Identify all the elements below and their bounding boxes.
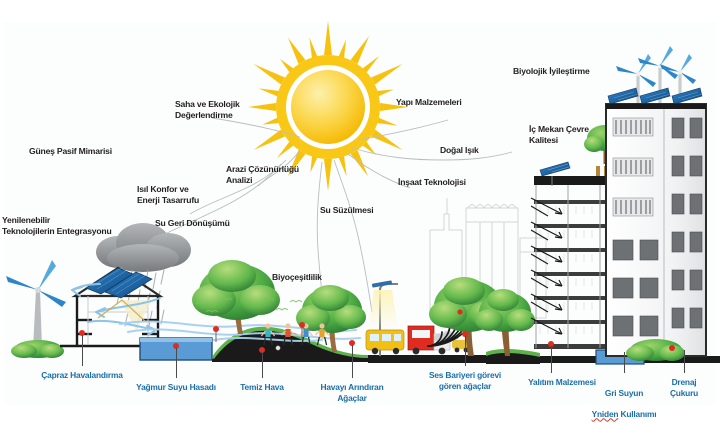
label-yenilenebilir: Yenilenebilir Teknolojilerin Entegrasyon… [2, 215, 112, 236]
tree-large-left [192, 260, 280, 334]
label-saha-ve-ekolojik: Saha ve Ekolojik Değerlendirme [175, 99, 240, 120]
label-su-suzulmesi: Su Süzülmesi [320, 205, 373, 216]
label-drenaj-cukuru: Drenaj Çukuru [666, 377, 702, 398]
label-temiz-hava: Temiz Hava [240, 382, 283, 393]
roof-solar-panels [608, 88, 702, 104]
leader-temiz-hava [262, 352, 263, 378]
label-gri-suyun-rest: Kullanımı [618, 409, 656, 419]
leader-yalitim-malzemesi [551, 346, 552, 373]
leader-gri-suyun [624, 352, 625, 373]
label-capraz-havalandirma: Çapraz Havalandırma [41, 370, 122, 381]
label-dogal-isik: Doğal Işık [440, 145, 479, 156]
label-gri-suyun-line1: Gri Suyun [605, 388, 643, 398]
label-su-geri-donusumu: Su Geri Dönüşümü [155, 218, 230, 229]
yellow-bus [366, 330, 404, 354]
tower-roof-assembly [608, 46, 702, 108]
label-biyocesitlilik: Biyoçeşitlilik [272, 272, 322, 283]
label-isil-konfor: Isıl Konfor ve Enerji Tasarrufu [137, 184, 199, 205]
label-arazi-cozunurlugu: Arazi Çözünürlüğü Analizi [226, 164, 299, 185]
label-ses-bariyeri: Ses Bariyeri görevi gören ağaçlar [429, 370, 501, 391]
label-yagmur-suyu-hasadi: Yağmur Suyu Hasadı [136, 382, 216, 393]
facade-louvers [613, 118, 653, 216]
leader-capraz-havalandirma [82, 335, 83, 366]
leader-yagmur-suyu-hasadi [176, 348, 177, 378]
label-ic-mekan-cevre-kalitesi: İç Mekan Çevre Kalitesi [529, 124, 589, 145]
tower-facade [606, 104, 706, 356]
label-yapi-malzemeleri: Yapı Malzemeleri [396, 97, 462, 108]
label-yalitim-malzemesi: Yalıtım Malzemesi [528, 377, 596, 388]
label-havayi-arindiran: Havayı Arındıran Ağaçlar [320, 382, 383, 403]
label-insaat-teknolojisi: İnşaat Teknolojisi [398, 177, 466, 188]
label-gunes-pasif-mimarisi: Güneş Pasif Mimarisi [29, 146, 112, 157]
label-gri-suyun-group: Gri Suyun Yniden Kullanımı [592, 377, 657, 419]
label-biyolojik-iyilestirme: Biyolojik İyileştirme [513, 66, 590, 77]
leader-havayi-arindiran [352, 345, 353, 378]
infographic-canvas: Güneş Pasif Mimarisi Yenilenebilir Tekno… [0, 0, 720, 427]
leader-drenaj-cukuru [684, 350, 685, 373]
wind-turbine-left [6, 260, 66, 358]
leader-ses-bariyeri [465, 336, 466, 366]
label-gri-suyun-misspelled: Yniden [592, 409, 619, 419]
